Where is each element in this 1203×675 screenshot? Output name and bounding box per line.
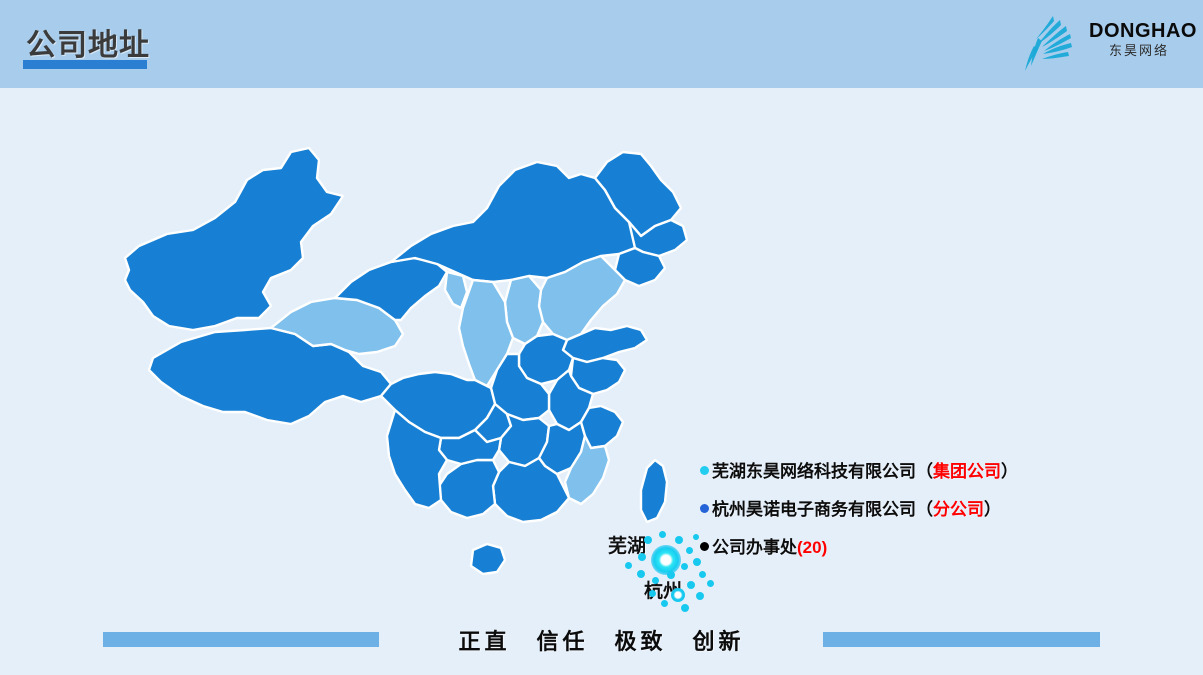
map-marker-wuhu-headquarters[interactable]	[651, 545, 681, 575]
legend-bullet-icon	[700, 504, 709, 513]
legend-paren-close: ）	[1001, 462, 1018, 481]
legend-paren-open: （	[916, 462, 933, 481]
legend-item-group-company[interactable]: 芜湖东昊网络科技有限公司（集团公司）	[700, 460, 1120, 498]
legend-label: 杭州昊诺电子商务有限公司	[712, 500, 916, 519]
map-marker-office[interactable]	[644, 536, 652, 544]
legend-paren-open: （	[916, 500, 933, 519]
title-underline	[23, 60, 147, 69]
map-marker-office[interactable]	[693, 534, 699, 540]
map-marker-office[interactable]	[625, 562, 632, 569]
slide-header: 公司地址 DONGHAO	[0, 0, 1203, 88]
map-marker-office[interactable]	[659, 531, 666, 538]
legend-tag: (20)	[797, 538, 827, 557]
map-marker-office[interactable]	[681, 604, 689, 612]
province-guangxi	[439, 460, 499, 518]
map-marker-office[interactable]	[707, 580, 714, 587]
map-marker-hangzhou-branch[interactable]	[671, 588, 685, 602]
china-map[interactable]: 芜湖 杭州	[95, 130, 715, 610]
province-ningxia	[445, 272, 467, 308]
province-hainan	[471, 544, 505, 574]
map-marker-office[interactable]	[687, 581, 695, 589]
slide-root: 公司地址 DONGHAO	[0, 0, 1203, 675]
map-marker-office[interactable]	[661, 600, 668, 607]
map-marker-office[interactable]	[667, 571, 675, 579]
map-marker-office[interactable]	[681, 563, 688, 570]
legend: 芜湖东昊网络科技有限公司（集团公司） 杭州昊诺电子商务有限公司（分公司） 公司办…	[700, 460, 1120, 574]
legend-tag: 分公司	[933, 500, 984, 519]
legend-item-branch-company[interactable]: 杭州昊诺电子商务有限公司（分公司）	[700, 498, 1120, 536]
map-marker-office[interactable]	[686, 547, 693, 554]
legend-bullet-icon	[700, 466, 709, 475]
company-logo: DONGHAO 东昊网络	[1013, 8, 1189, 78]
logo-text: DONGHAO 东昊网络	[1089, 20, 1189, 60]
map-marker-office[interactable]	[652, 577, 659, 584]
map-marker-office[interactable]	[638, 553, 646, 561]
legend-label: 芜湖东昊网络科技有限公司	[712, 462, 916, 481]
legend-bullet-icon	[700, 542, 709, 551]
map-marker-office[interactable]	[696, 592, 704, 600]
page-title: 公司地址	[26, 20, 150, 64]
map-marker-office[interactable]	[675, 536, 683, 544]
legend-paren-close: ）	[984, 500, 1001, 519]
footer-slogan: 正直 信任 极致 创新	[0, 624, 1203, 656]
map-marker-office[interactable]	[637, 570, 645, 578]
map-marker-office[interactable]	[649, 590, 656, 597]
legend-label: 公司办事处	[712, 538, 797, 557]
province-taiwan	[641, 460, 667, 522]
feather-fan-logo-mark	[1019, 10, 1091, 76]
legend-tag: 集团公司	[933, 462, 1001, 481]
logo-text-en: DONGHAO	[1089, 20, 1189, 42]
legend-item-offices[interactable]: 公司办事处(20)	[700, 536, 1120, 574]
logo-text-cn: 东昊网络	[1089, 42, 1189, 60]
